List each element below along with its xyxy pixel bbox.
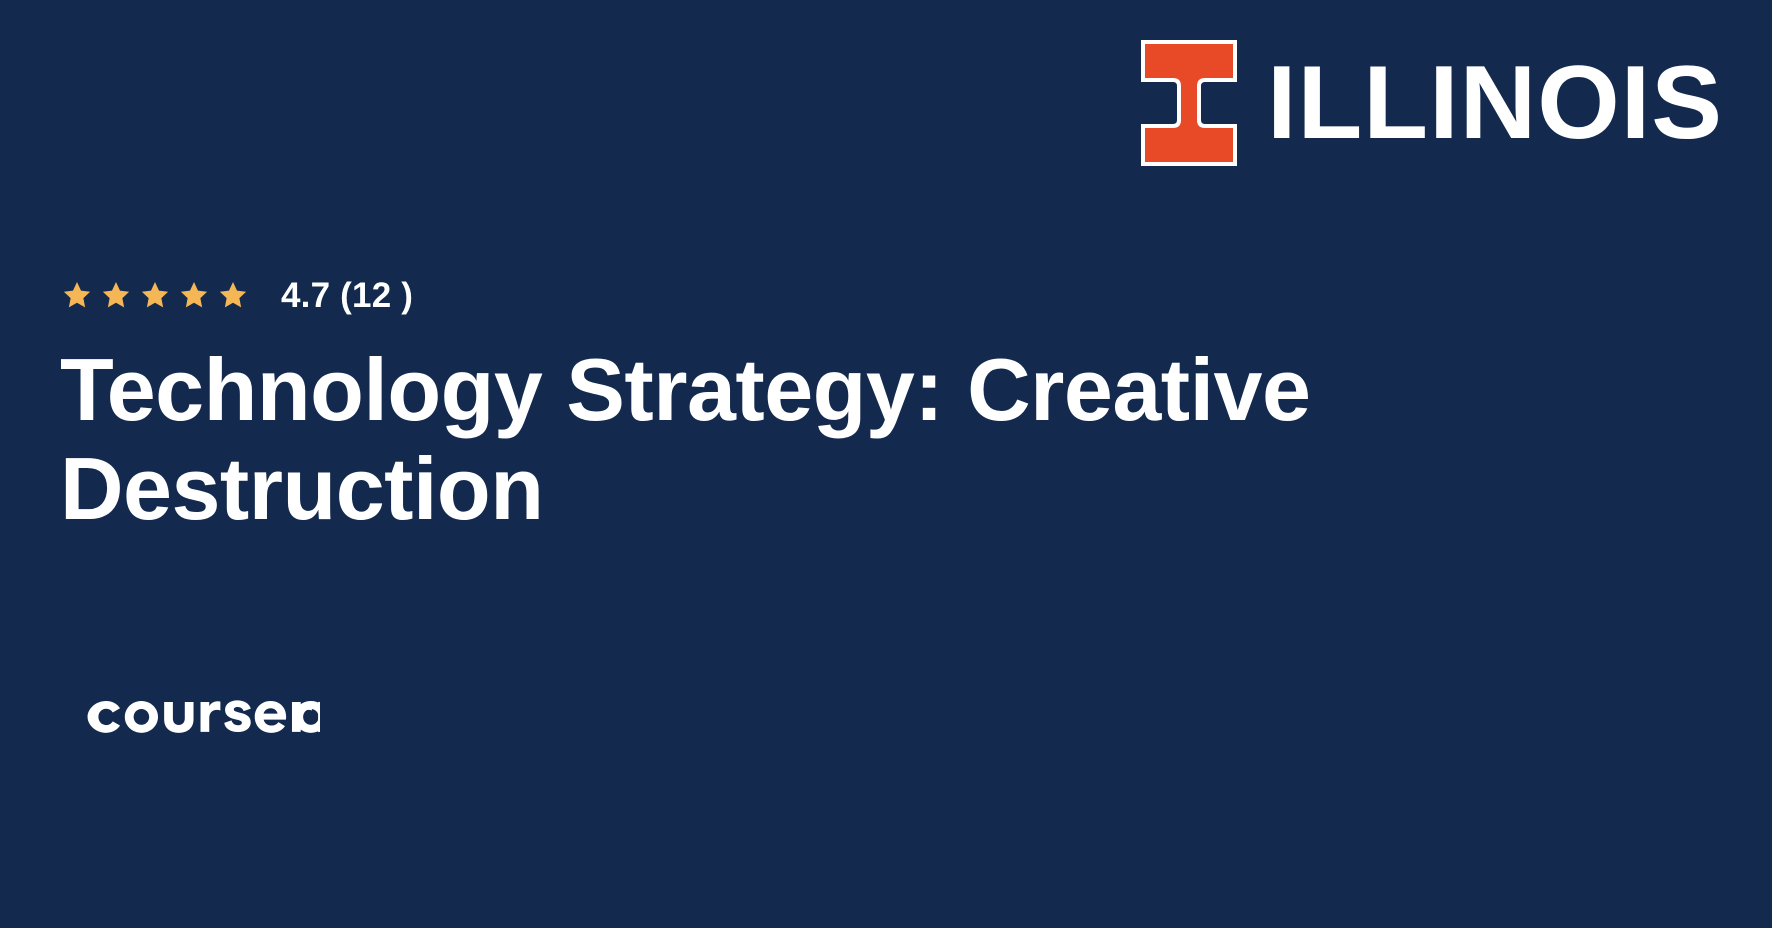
university-logo[interactable]: ILLINOIS (1141, 40, 1714, 166)
star-rating (62, 280, 248, 310)
university-wordmark: ILLINOIS (1267, 51, 1723, 155)
star-icon (140, 280, 170, 310)
course-title: Technology Strategy: Creative Destructio… (60, 340, 1380, 539)
rating-row[interactable]: 4.7 (12 ) (62, 272, 413, 318)
rating-value-text: 4.7 (12 ) (281, 278, 413, 313)
star-icon (179, 280, 209, 310)
star-icon (101, 280, 131, 310)
coursera-logo[interactable] (82, 687, 320, 743)
illinois-block-i-icon (1141, 40, 1237, 166)
coursera-wordmark-icon (82, 687, 320, 743)
star-icon (218, 280, 248, 310)
course-hero-banner: ILLINOIS 4.7 (12 ) Technology Strategy: … (0, 0, 1772, 928)
star-icon (62, 280, 92, 310)
